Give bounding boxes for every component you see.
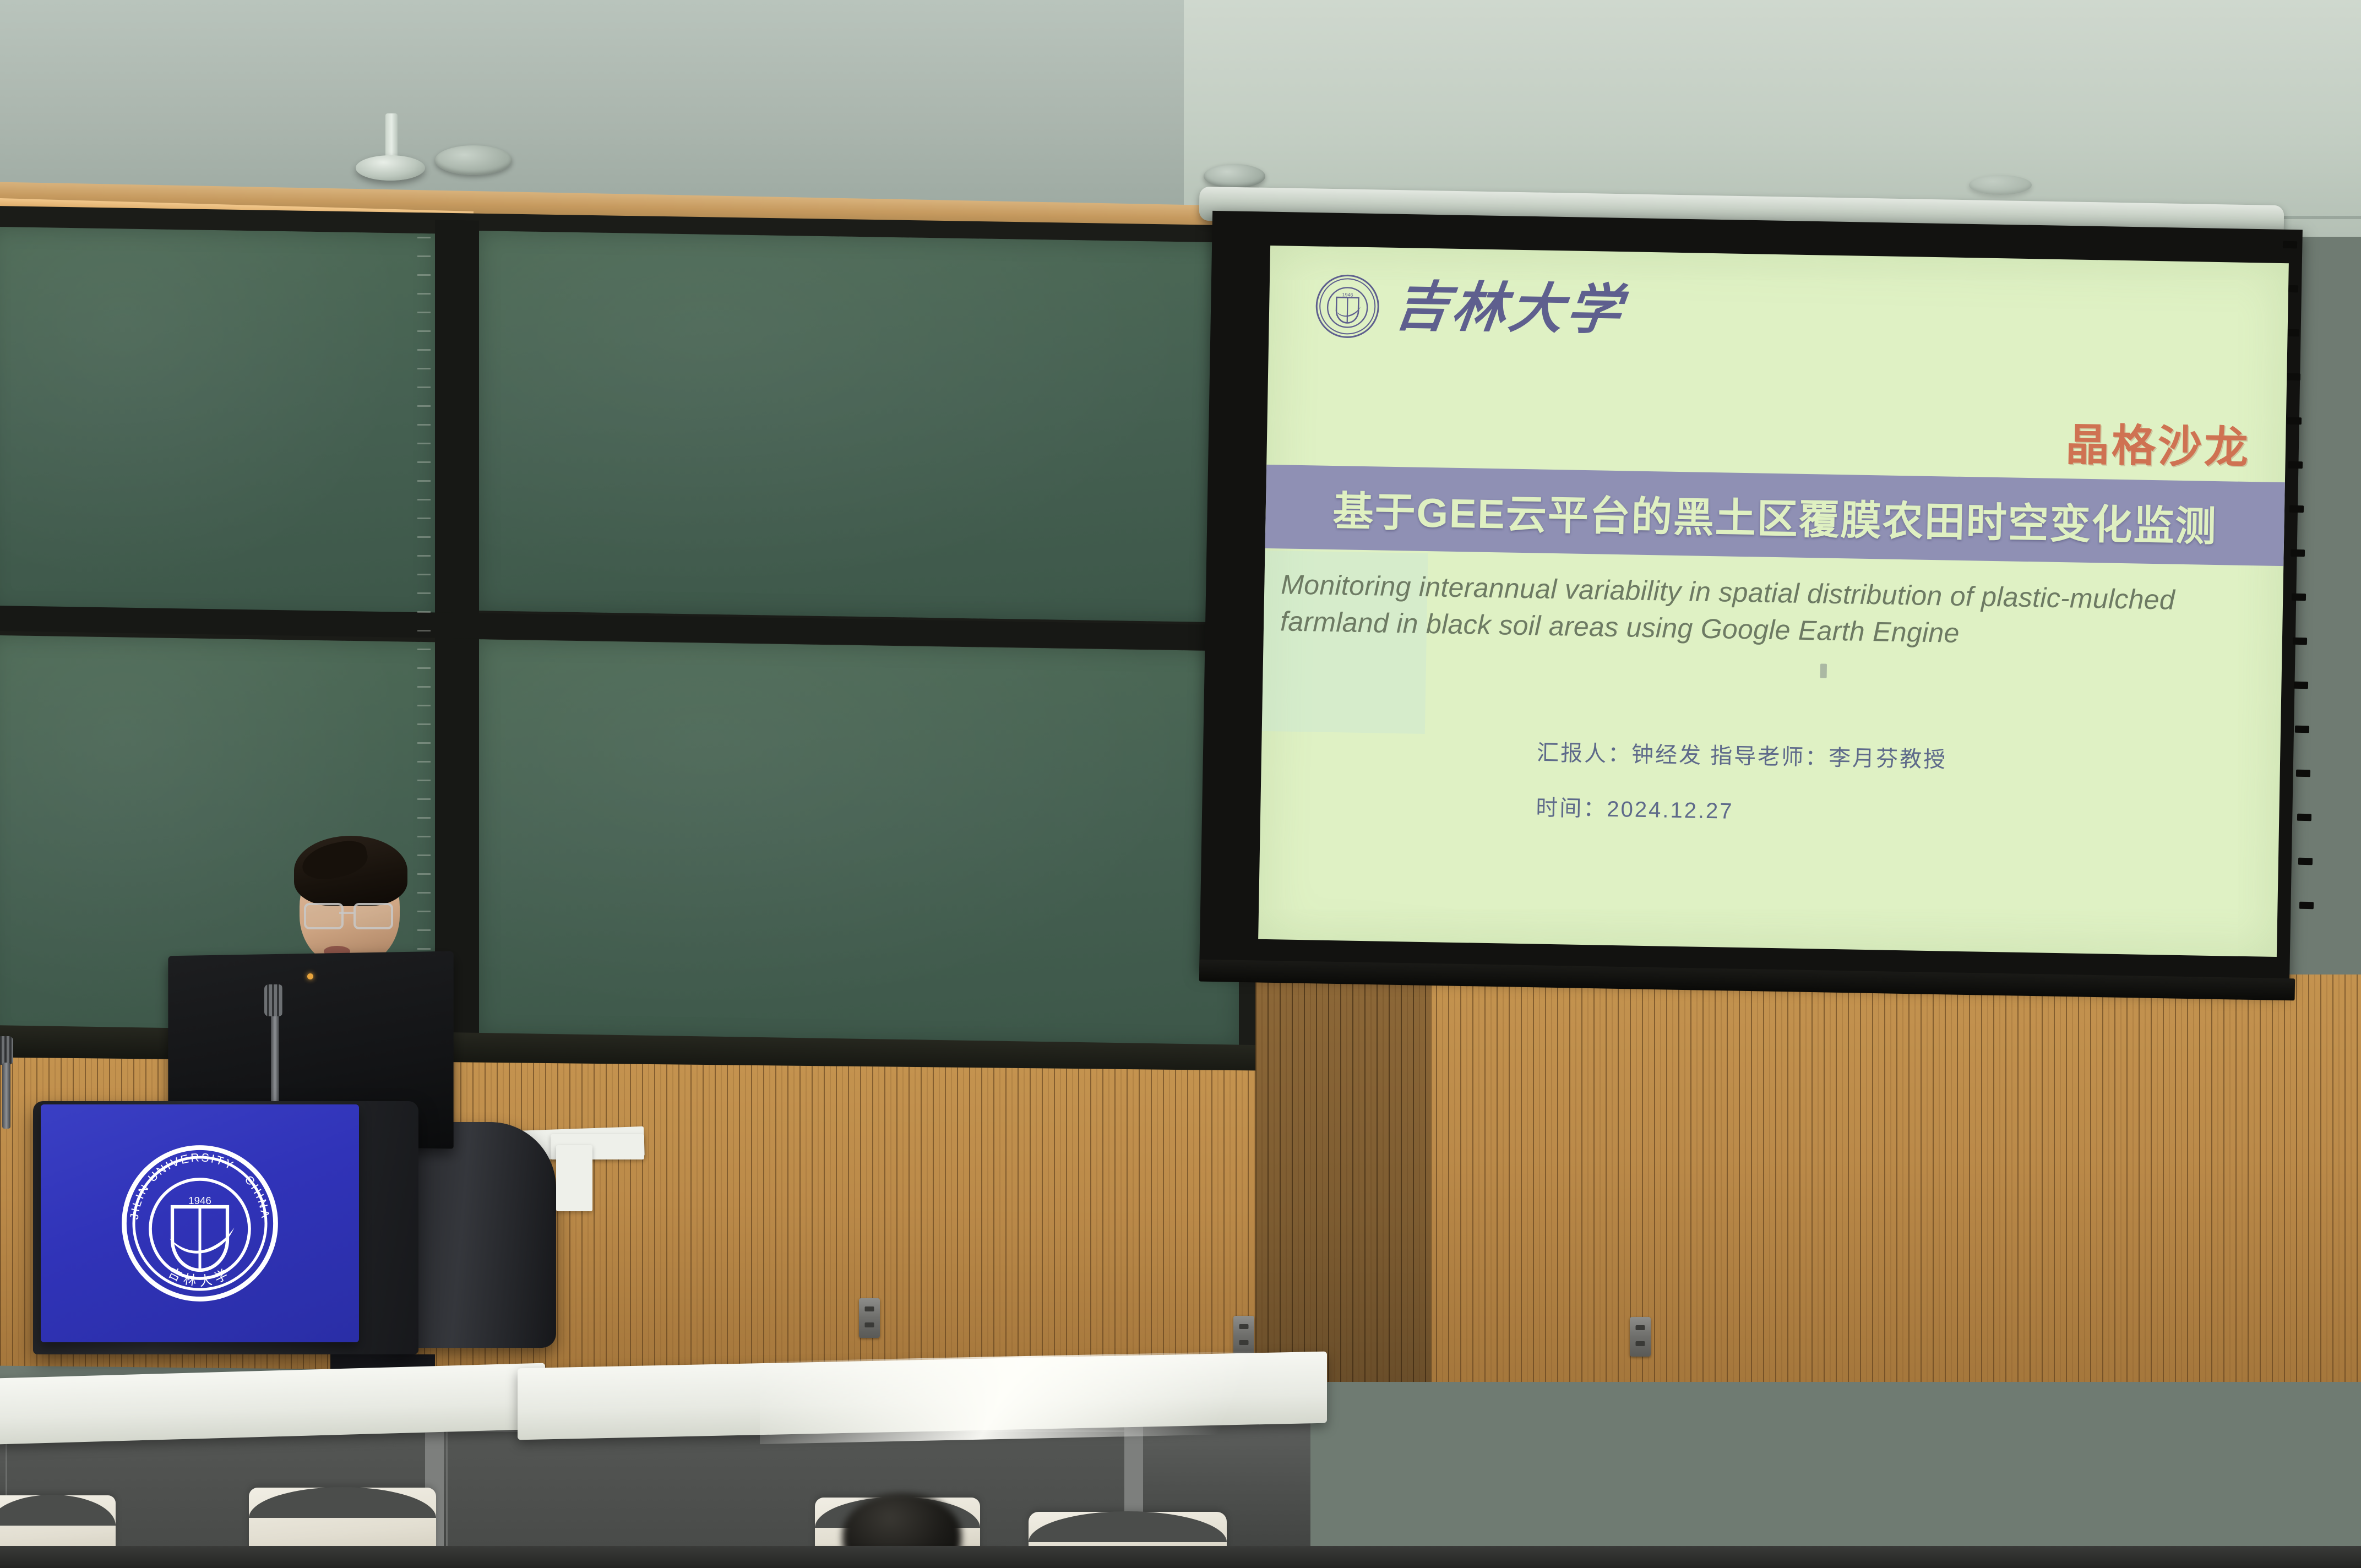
screen-edge-tab [2293,638,2307,645]
slide-date-line: 时间：2024.12.27 [1536,790,1734,825]
presenter-glasses-icon [304,903,396,925]
wall-power-outlet[interactable] [859,1298,880,1338]
podium-sign: 1946 JILIN UNIVERSITY · CHINA 吉林大学 [41,1104,359,1342]
wall-power-outlet[interactable] [1630,1317,1651,1357]
floor [0,1546,2361,1568]
screen-edge-tab [2297,814,2311,821]
jilin-university-seal-icon: 1946 JILIN UNIVERSITY · CHINA 吉林大学 [117,1141,282,1306]
mouse-cursor-icon [1820,664,1827,678]
screen-edge-tab [2299,902,2314,909]
screen-edge-tab [2286,373,2300,380]
glasses-bridge [339,912,353,914]
screen-edge-tab [2287,417,2302,424]
ceiling-projector-icon [356,155,425,181]
slide-university-logo: 1946 吉林大学 [1314,273,1624,344]
salon-badge: 晶格沙龙 [2065,409,2251,476]
slide-presenter-line: 汇报人：钟经发 指导老师：李月芬教授 [1537,735,1947,774]
slat-wall-shadow [1255,974,1432,1382]
chalkboard-panel [479,231,1239,623]
slide-university-name: 吉林大学 [1391,280,1627,338]
screen-edge-tab [2289,505,2304,513]
screen-edge-tab [2288,461,2303,469]
jilin-university-seal-icon: 1946 [1314,273,1381,340]
screen-edge-tab [2294,682,2308,689]
slide-title-cn: 基于GEE云平台的黑土区覆膜农田时空变化监测 [1332,478,2218,553]
chalkboard-panel [0,227,435,619]
screen-edge-tab [2295,726,2309,733]
lecture-hall-scene: 1946 吉林大学 晶格沙龙 基于GEE云平台的黑土区覆膜农田时空变化监测 Mo… [0,0,2361,1568]
monitor-power-led-icon [307,973,313,979]
screen-edge-tab [2298,858,2313,865]
screen-edge-tab [2291,549,2305,557]
podium-shelf-paper [556,1145,592,1211]
ceiling-speaker-icon [435,145,512,175]
svg-text:1946: 1946 [188,1195,211,1206]
slide-canvas[interactable]: 1946 吉林大学 晶格沙龙 基于GEE云平台的黑土区覆膜农田时空变化监测 Mo… [1258,246,2289,957]
second-microphone-icon[interactable] [0,1036,13,1065]
slide-title-band: 基于GEE云平台的黑土区覆膜农田时空变化监测 [1265,465,2285,566]
ceiling-speaker-icon [1204,164,1265,188]
glasses-lens-right [353,903,393,929]
screen-edge-tab [2292,594,2306,601]
wall-power-outlet[interactable] [1233,1316,1254,1355]
svg-text:1946: 1946 [1342,292,1353,297]
glasses-lens-left [304,903,344,929]
chalkboard-panel [479,639,1239,1048]
microphone-icon[interactable] [264,984,283,1016]
second-microphone-stand [2,1063,10,1129]
ceiling-speaker-icon [1969,175,2032,195]
screen-edge-tab [2296,770,2310,777]
screen-edge-tab [2283,241,2297,248]
